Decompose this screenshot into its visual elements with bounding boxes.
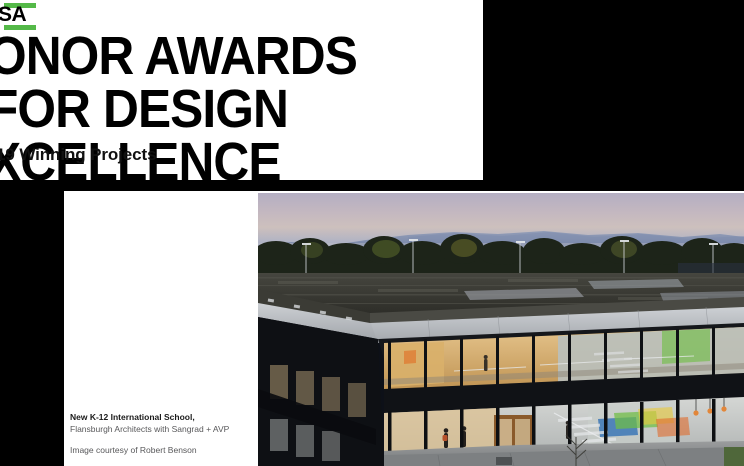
caption-photo-courtesy: Image courtesy of Robert Benson <box>70 445 245 457</box>
school-building-dusk-photo <box>258 193 744 466</box>
page-subtitle: 19 Winning Projects <box>0 145 156 165</box>
logo-letters: SA <box>0 5 26 25</box>
hero-header-card: SA ONOR AWARDS FOR DESIGN XCELLENCE 19 W… <box>0 0 483 180</box>
page-root: SA ONOR AWARDS FOR DESIGN XCELLENCE 19 W… <box>0 0 744 466</box>
photo-caption: New K-12 International School, Flansburg… <box>70 411 245 456</box>
caption-project-title: New K-12 International School, <box>70 411 245 423</box>
caption-architects: Flansburgh Architects with Sangrad + AVP <box>70 424 245 436</box>
